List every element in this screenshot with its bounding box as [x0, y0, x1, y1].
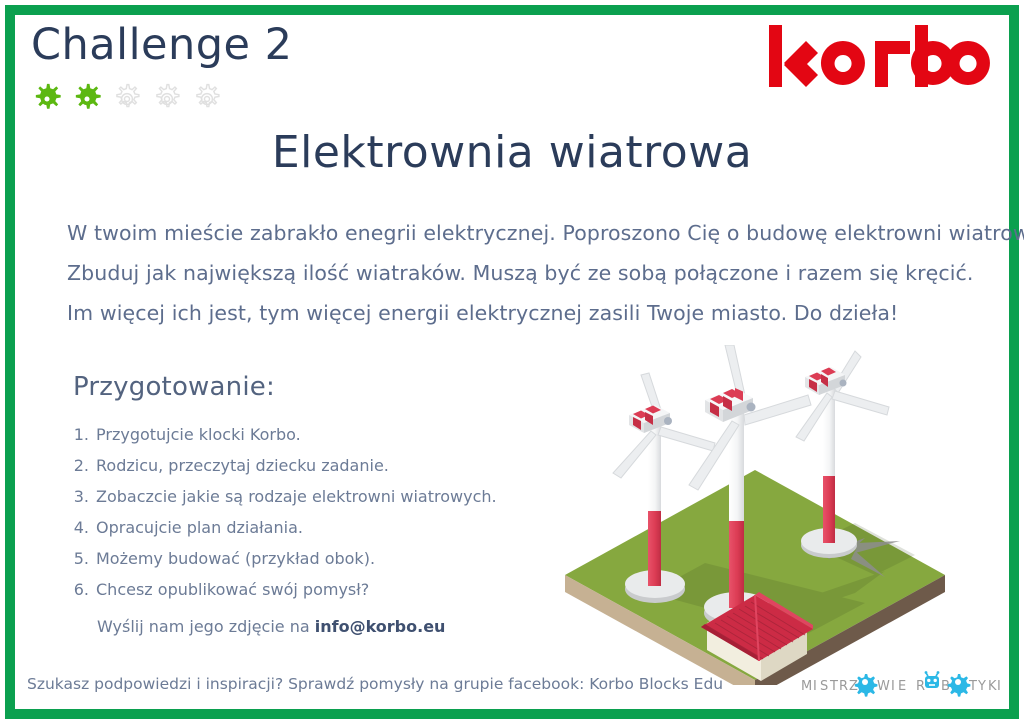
- submission-instruction: Wyślij nam jego zdjęcie na info@korbo.eu: [97, 617, 445, 636]
- submission-instruction-text: Wyślij nam jego zdjęcie na: [97, 617, 315, 636]
- list-item: 2. Rodzicu, przeczytaj dziecku zadanie.: [67, 450, 537, 481]
- list-item-label: Możemy budować (przykład obok).: [96, 543, 375, 574]
- list-item-label: Zobaczcie jakie są rodzaje elektrowni wi…: [96, 481, 497, 512]
- list-item: 4. Opracujcie plan działania.: [67, 512, 537, 543]
- svg-text:M: M: [801, 679, 814, 694]
- list-item-label: Chcesz opublikować swój pomysł?: [96, 574, 369, 605]
- svg-text:I: I: [891, 679, 896, 694]
- intro-line: Zbuduj jak największą ilość wiatraków. M…: [67, 253, 967, 293]
- contact-email-link[interactable]: info@korbo.eu: [315, 617, 446, 636]
- intro-line: W twoim mieście zabrakło enegrii elektry…: [67, 213, 967, 253]
- list-item-label: Przygotujcie klocki Korbo.: [96, 419, 301, 450]
- svg-text:E: E: [898, 679, 908, 694]
- challenge-title: Challenge 2: [31, 20, 293, 70]
- list-item-number: 5.: [67, 543, 89, 574]
- mistrzowie-robotyki-logo: MI ST RZ WIE R: [801, 670, 1001, 700]
- svg-text:Y: Y: [977, 679, 987, 694]
- preparation-list: 1. Przygotujcie klocki Korbo. 2. Rodzicu…: [67, 419, 537, 605]
- gear-icon: [855, 674, 878, 697]
- poster-page: Challenge 2: [0, 0, 1024, 724]
- korbo-logo: [765, 23, 995, 95]
- preparation-heading: Przygotowanie:: [73, 372, 275, 402]
- svg-text:T: T: [968, 679, 978, 694]
- gear-icon: [948, 674, 971, 697]
- svg-text:S: S: [820, 679, 830, 694]
- list-item-number: 1.: [67, 419, 89, 450]
- gear-icon: [69, 81, 105, 117]
- intro-line: Im więcej ich jest, tym więcej energii e…: [67, 293, 967, 333]
- gear-icon: [149, 81, 185, 117]
- list-item-label: Opracujcie plan działania.: [96, 512, 303, 543]
- list-item-number: 2.: [67, 450, 89, 481]
- list-item-number: 3.: [67, 481, 89, 512]
- robot-head-icon: [925, 671, 940, 688]
- list-item-label: Rodzicu, przeczytaj dziecku zadanie.: [96, 450, 389, 481]
- list-item: 3. Zobaczcie jakie są rodzaje elektrowni…: [67, 481, 537, 512]
- list-item-number: 4.: [67, 512, 89, 543]
- gear-icon: [189, 81, 225, 117]
- gear-icon: [29, 81, 65, 117]
- svg-text:T: T: [829, 679, 839, 694]
- svg-text:R: R: [916, 679, 926, 694]
- list-item: 1. Przygotujcie klocki Korbo.: [67, 419, 537, 450]
- poster-content: Challenge 2: [15, 15, 1009, 709]
- difficulty-rating: [29, 81, 225, 117]
- list-item: 6. Chcesz opublikować swój pomysł?: [67, 574, 537, 605]
- list-item: 5. Możemy budować (przykład obok).: [67, 543, 537, 574]
- wind-farm-illustration: [555, 345, 955, 685]
- svg-text:I: I: [813, 679, 818, 694]
- page-title: Elektrownia wiatrowa: [15, 127, 1009, 178]
- svg-text:W: W: [877, 679, 891, 694]
- intro-paragraph: W twoim mieście zabrakło enegrii elektry…: [67, 213, 967, 333]
- gear-icon: [109, 81, 145, 117]
- footer-note: Szukasz podpowiedzi i inspiracji? Sprawd…: [27, 675, 723, 693]
- list-item-number: 6.: [67, 574, 89, 605]
- svg-text:I: I: [997, 679, 1001, 694]
- svg-text:R: R: [839, 679, 849, 694]
